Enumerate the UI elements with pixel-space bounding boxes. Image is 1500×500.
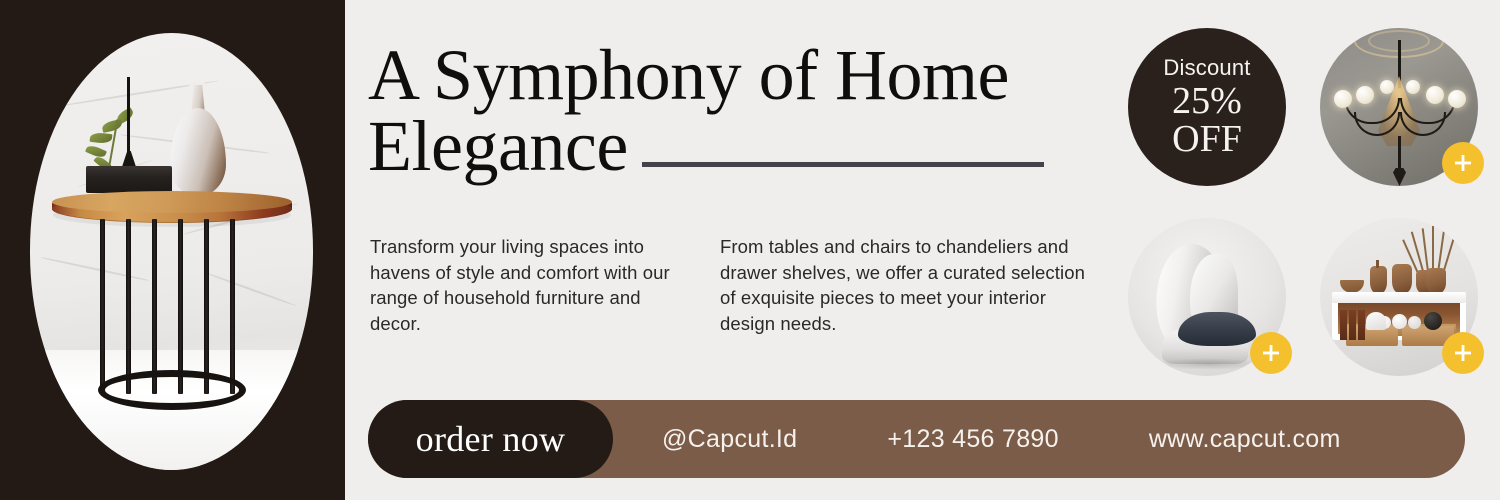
table-leg [126,219,131,394]
website-url[interactable]: www.capcut.com [1149,425,1341,454]
copy-column-1: Transform your living spaces into havens… [370,234,675,336]
plus-icon [1261,343,1281,363]
plus-icon [1453,343,1473,363]
add-to-cart-button-armchair[interactable] [1250,332,1292,374]
table-leg [204,219,209,394]
table-leg [100,219,105,394]
order-now-button[interactable]: order now [368,400,613,478]
ceramic-vase [170,108,226,196]
headline-line-1: A Symphony of Home [368,40,1098,111]
hero-panel [0,0,345,500]
add-to-cart-button-wall-shelf[interactable] [1442,332,1484,374]
contact-items: @Capcut.Id +123 456 7890 www.capcut.com [640,400,1460,478]
hero-image-side-table [30,33,313,470]
social-handle[interactable]: @Capcut.Id [662,425,797,454]
page-title: A Symphony of Home Elegance [368,40,1098,181]
promo-banner: A Symphony of Home Elegance Transform yo… [0,0,1500,500]
product-card-chandelier[interactable] [1320,28,1478,186]
discount-badge: Discount 25% OFF [1128,28,1286,186]
phone-number[interactable]: +123 456 7890 [887,425,1058,454]
wall-vein [41,257,149,281]
discount-label: Discount [1163,56,1250,80]
add-to-cart-button-chandelier[interactable] [1442,142,1484,184]
hero-floor [30,350,313,470]
table-leg [152,219,157,394]
product-card-grid: Discount 25% OFF [1128,28,1478,383]
headline-line-2-row: Elegance [368,111,1098,182]
table-top-surface [52,191,292,213]
intro-copy: Transform your living spaces into havens… [370,234,1090,336]
discount-off: OFF [1172,120,1242,158]
plus-icon [1453,153,1473,173]
table-leg [230,219,235,394]
wall-vein [203,271,298,307]
decor-box [86,166,172,193]
discount-percent: 25% [1172,82,1242,120]
headline-line-2: Elegance [368,111,628,182]
table-base-ring [98,370,246,410]
copy-paragraph-2: From tables and chairs to chandeliers an… [720,234,1090,336]
product-card-armchair[interactable] [1128,218,1286,376]
table-leg [178,219,183,394]
product-card-wall-shelf[interactable] [1320,218,1478,376]
copy-column-2: From tables and chairs to chandeliers an… [720,234,1090,336]
copy-paragraph-1: Transform your living spaces into havens… [370,234,675,336]
headline-rule [642,162,1044,167]
